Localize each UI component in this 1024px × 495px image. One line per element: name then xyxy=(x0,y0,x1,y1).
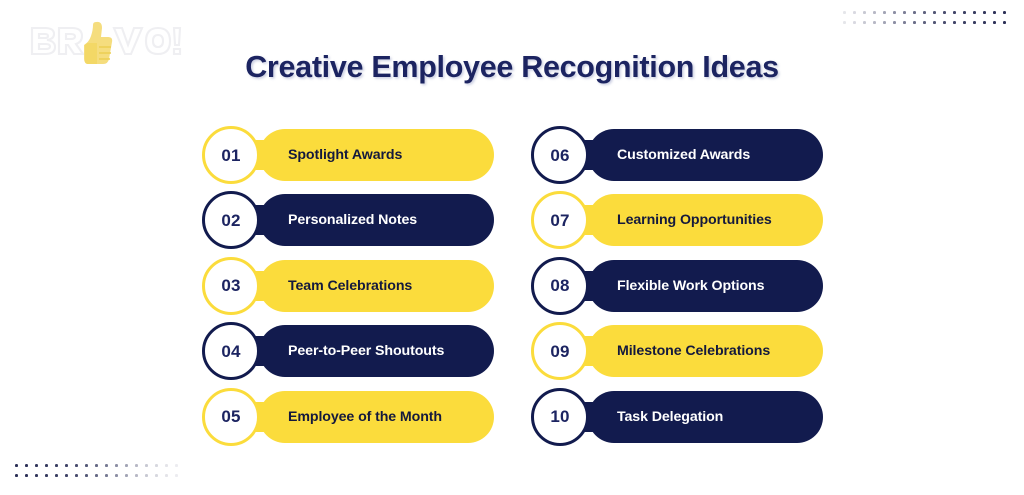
page-title: Creative Employee Recognition Ideas xyxy=(0,50,1024,85)
list-item-number: 09 xyxy=(550,343,569,360)
list-item[interactable]: Team Celebrations 03 xyxy=(202,257,494,315)
list-item-bar: Team Celebrations xyxy=(259,260,494,312)
list-item-bar: Spotlight Awards xyxy=(259,129,494,181)
list-item-label: Employee of the Month xyxy=(288,409,442,425)
list-item-bar: Employee of the Month xyxy=(259,391,494,443)
list-item-number: 02 xyxy=(221,212,240,229)
list-item-label: Team Celebrations xyxy=(288,278,412,294)
list-item-label: Flexible Work Options xyxy=(617,278,764,294)
list-item-badge: 08 xyxy=(531,257,589,315)
decorative-dots-top-right xyxy=(840,8,1010,28)
list-item-label: Personalized Notes xyxy=(288,212,417,228)
list-item-bar: Milestone Celebrations xyxy=(588,325,823,377)
list-item-label: Customized Awards xyxy=(617,147,750,163)
list-item-badge: 07 xyxy=(531,191,589,249)
list-item-bar: Learning Opportunities xyxy=(588,194,823,246)
list-item-number: 07 xyxy=(550,212,569,229)
list-item-bar: Peer-to-Peer Shoutouts xyxy=(259,325,494,377)
list-item-bar: Customized Awards xyxy=(588,129,823,181)
idea-column-right: Customized Awards 06 Learning Opportunit… xyxy=(531,126,823,453)
list-item-number: 08 xyxy=(550,277,569,294)
list-item-label: Peer-to-Peer Shoutouts xyxy=(288,343,444,359)
list-item-bar: Flexible Work Options xyxy=(588,260,823,312)
list-item[interactable]: Customized Awards 06 xyxy=(531,126,823,184)
decorative-dots-bottom-left xyxy=(12,461,182,481)
list-item[interactable]: Task Delegation 10 xyxy=(531,388,823,446)
list-item-badge: 04 xyxy=(202,322,260,380)
infographic-canvas: Creative Employee Recognition Ideas Spot… xyxy=(0,0,1024,495)
list-item-number: 03 xyxy=(221,277,240,294)
list-item[interactable]: Personalized Notes 02 xyxy=(202,191,494,249)
list-item-label: Spotlight Awards xyxy=(288,147,402,163)
list-item-badge: 05 xyxy=(202,388,260,446)
idea-column-left: Spotlight Awards 01 Personalized Notes 0… xyxy=(202,126,494,453)
list-item-badge: 03 xyxy=(202,257,260,315)
list-item-label: Milestone Celebrations xyxy=(617,343,770,359)
list-item-badge: 01 xyxy=(202,126,260,184)
list-item-badge: 09 xyxy=(531,322,589,380)
list-item-number: 06 xyxy=(550,147,569,164)
list-item-bar: Personalized Notes xyxy=(259,194,494,246)
list-item[interactable]: Peer-to-Peer Shoutouts 04 xyxy=(202,322,494,380)
list-item-number: 01 xyxy=(221,147,240,164)
list-item[interactable]: Flexible Work Options 08 xyxy=(531,257,823,315)
list-item-number: 10 xyxy=(550,408,569,425)
list-item-number: 05 xyxy=(221,408,240,425)
list-item-badge: 06 xyxy=(531,126,589,184)
list-item[interactable]: Employee of the Month 05 xyxy=(202,388,494,446)
idea-list: Spotlight Awards 01 Personalized Notes 0… xyxy=(0,126,1024,456)
list-item-badge: 10 xyxy=(531,388,589,446)
list-item[interactable]: Spotlight Awards 01 xyxy=(202,126,494,184)
list-item[interactable]: Milestone Celebrations 09 xyxy=(531,322,823,380)
list-item-bar: Task Delegation xyxy=(588,391,823,443)
list-item-badge: 02 xyxy=(202,191,260,249)
list-item-label: Task Delegation xyxy=(617,409,723,425)
list-item-label: Learning Opportunities xyxy=(617,212,772,228)
list-item-number: 04 xyxy=(221,343,240,360)
list-item[interactable]: Learning Opportunities 07 xyxy=(531,191,823,249)
